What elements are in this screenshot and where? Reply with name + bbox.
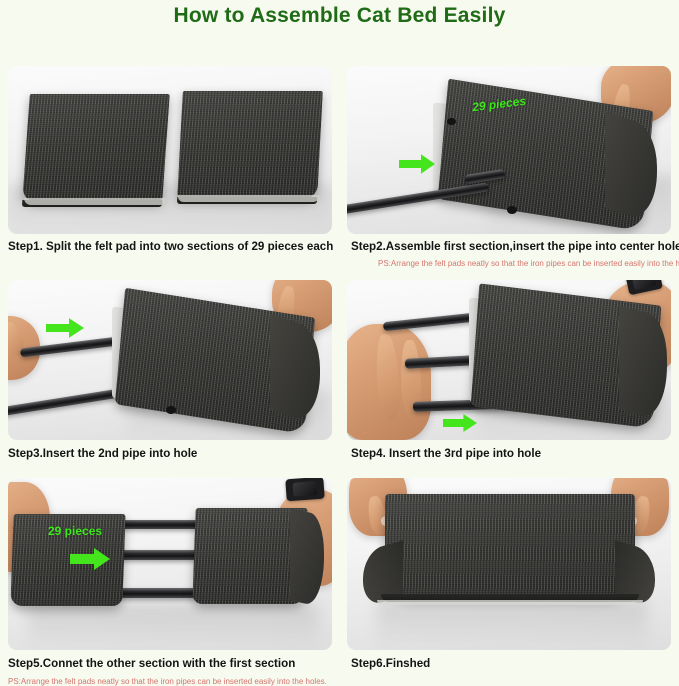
step2-photo: 29 pieces	[347, 66, 671, 234]
step1-photo	[8, 66, 332, 234]
step2-caption: Step2.Assemble first section,insert the …	[351, 240, 679, 253]
green-arrow-icon	[46, 318, 84, 338]
green-arrow-icon	[443, 414, 477, 432]
green-arrow-icon	[399, 154, 435, 174]
wristwatch	[285, 478, 324, 501]
step4-caption: Step4. Insert the 3rd pipe into hole	[351, 447, 541, 460]
step5-caption: Step5.Connet the other section with the …	[8, 657, 295, 670]
step5-note: PS:Arrange the felt pads neatly so that …	[8, 677, 327, 686]
step4-photo	[347, 280, 671, 440]
step5-photo: 29 pieces	[8, 478, 332, 650]
step3-photo	[8, 280, 332, 440]
step2-note: PS:Arrange the felt pads neatly so that …	[378, 259, 679, 268]
step1-caption: Step1. Split the felt pad into two secti…	[8, 240, 333, 253]
step6-photo	[347, 478, 671, 650]
instruction-sheet: How to Assemble Cat Bed Easily Step1. Sp…	[0, 0, 679, 663]
page-title: How to Assemble Cat Bed Easily	[0, 0, 679, 28]
green-arrow-icon	[70, 548, 110, 570]
step3-caption: Step3.Insert the 2nd pipe into hole	[8, 447, 197, 460]
step6-caption: Step6.Finshed	[351, 657, 430, 670]
callout-29-pieces-step5: 29 pieces	[48, 524, 102, 538]
